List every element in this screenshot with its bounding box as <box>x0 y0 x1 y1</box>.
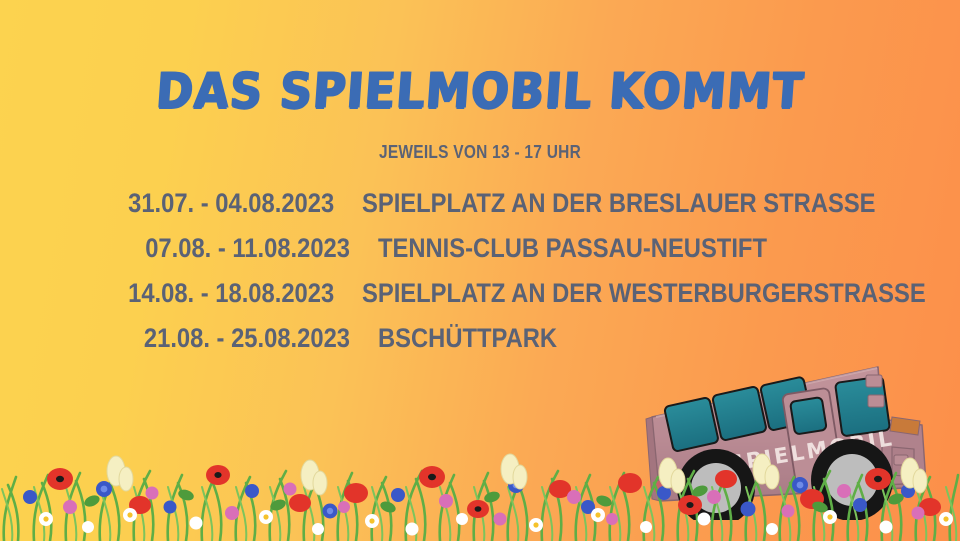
bus-tape-tab-1 <box>866 375 882 387</box>
bus-tape-tab-2 <box>868 395 884 407</box>
subtitle-time: JEWEILS VON 13 - 17 UHR <box>67 142 893 163</box>
schedule-list: 31.07. - 04.08.2023 SPIELPLATZ AN DER BR… <box>100 188 930 368</box>
bus-window-rear-1 <box>664 397 719 452</box>
schedule-date: 07.08. - 11.08.2023 <box>130 233 350 264</box>
bus-door-window <box>790 397 827 435</box>
poster-canvas: DAS SPIELMOBIL KOMMT JEWEILS VON 13 - 17… <box>0 0 960 541</box>
schedule-row: 07.08. - 11.08.2023 TENNIS-CLUB PASSAU-N… <box>100 233 930 278</box>
schedule-place: SPIELPLATZ AN DER WESTERBURGERSTRASSE <box>362 278 926 309</box>
schedule-row: 31.07. - 04.08.2023 SPIELPLATZ AN DER BR… <box>100 188 930 233</box>
bus-window-rear-2 <box>712 386 767 441</box>
schedule-date: 31.07. - 04.08.2023 <box>128 188 334 219</box>
schedule-place: TENNIS-CLUB PASSAU-NEUSTIFT <box>378 233 767 264</box>
schedule-place: BSCHÜTTPARK <box>378 323 557 354</box>
flower-meadow-band <box>0 449 960 541</box>
schedule-row: 14.08. - 18.08.2023 SPIELPLATZ AN DER WE… <box>100 278 930 323</box>
schedule-place: SPIELPLATZ AN DER BRESLAUER STRASSE <box>362 188 876 219</box>
page-title: DAS SPIELMOBIL KOMMT <box>0 63 960 120</box>
schedule-date: 21.08. - 25.08.2023 <box>130 323 350 354</box>
schedule-date: 14.08. - 18.08.2023 <box>128 278 334 309</box>
